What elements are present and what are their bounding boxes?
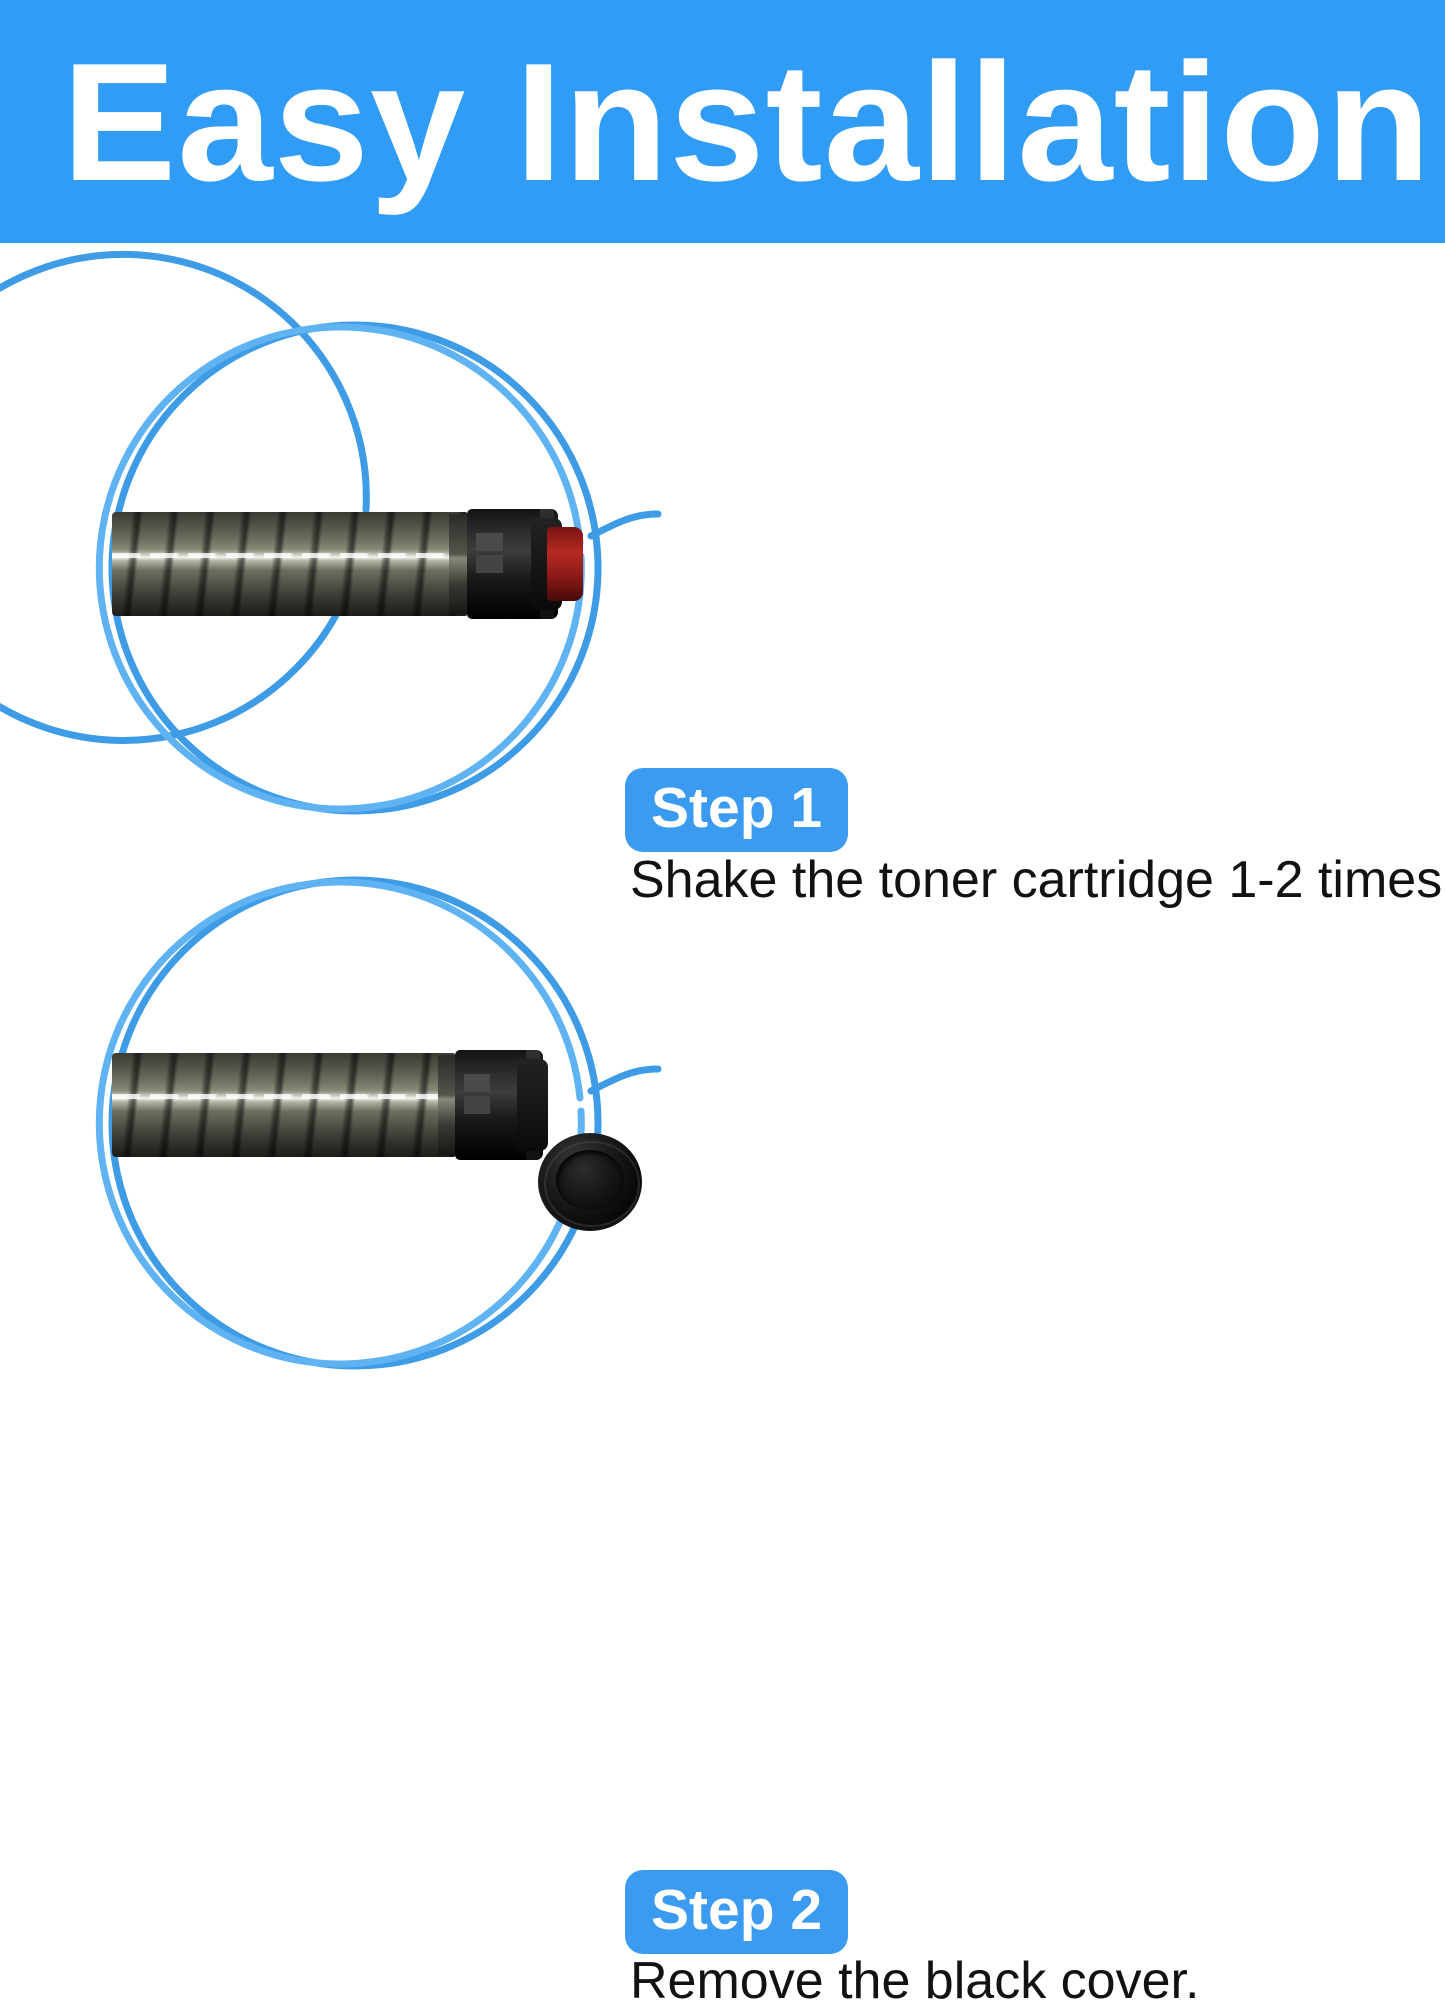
step-block-1: Step 1 Shake the toner cartridge 1-2 tim… bbox=[0, 300, 1445, 860]
spiral-ring-icon bbox=[98, 855, 628, 1385]
curved-connector-line bbox=[591, 514, 658, 536]
spiral-ring-icon bbox=[98, 300, 628, 830]
step-1-illustration-circle bbox=[98, 300, 628, 830]
step-1-badge: Step 1 bbox=[625, 768, 848, 852]
header-banner: Easy Installation bbox=[0, 0, 1445, 243]
step-2-badge: Step 2 bbox=[625, 1870, 848, 1954]
detached-black-cover bbox=[538, 1133, 642, 1231]
step-2-caption: Remove the black cover. bbox=[630, 1953, 1199, 2010]
step-block-2: Step 2 Remove the black cover. bbox=[0, 855, 1445, 1375]
step-2-illustration-circle bbox=[98, 855, 628, 1385]
curved-connector-line bbox=[591, 1069, 658, 1091]
page-title: Easy Installation bbox=[62, 38, 1432, 206]
